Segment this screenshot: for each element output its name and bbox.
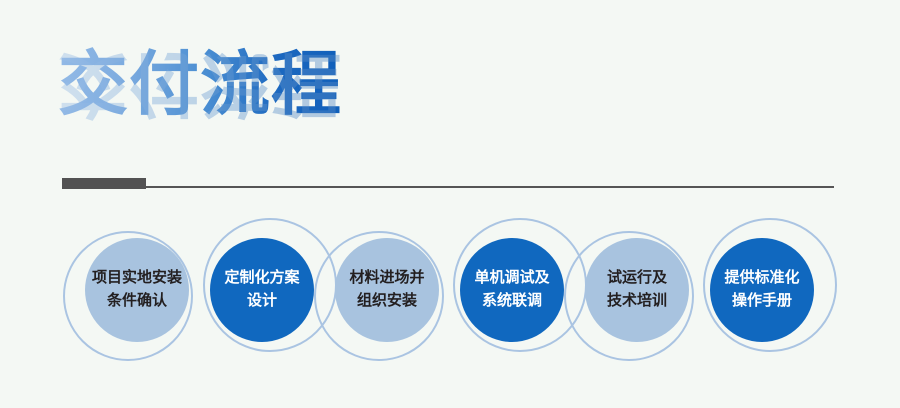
step-circle-4[interactable] <box>460 238 564 342</box>
step-circle-6[interactable] <box>710 238 814 342</box>
page-title-reflection: 交付流程 <box>58 44 342 124</box>
process-flow-graphics <box>0 205 900 400</box>
step-circle-5[interactable] <box>585 238 689 342</box>
step-circle-2[interactable] <box>210 238 314 342</box>
step-circle-3[interactable] <box>335 238 439 342</box>
process-flow: 项目实地安装条件确认定制化方案设计材料进场并组织安装单机调试及系统联调试运行及技… <box>0 205 900 400</box>
divider-accent-bar <box>62 178 146 189</box>
step-circle-1[interactable] <box>85 238 189 342</box>
reflection-fade-mask <box>52 122 412 208</box>
title-block: 交付流程 交付流程 <box>58 44 398 174</box>
divider <box>62 178 834 190</box>
divider-rule <box>146 186 834 188</box>
slide-canvas: 交付流程 交付流程 项目实地安装条件确认定制化方案设计材料进场并组织安装单机调试… <box>0 0 900 408</box>
